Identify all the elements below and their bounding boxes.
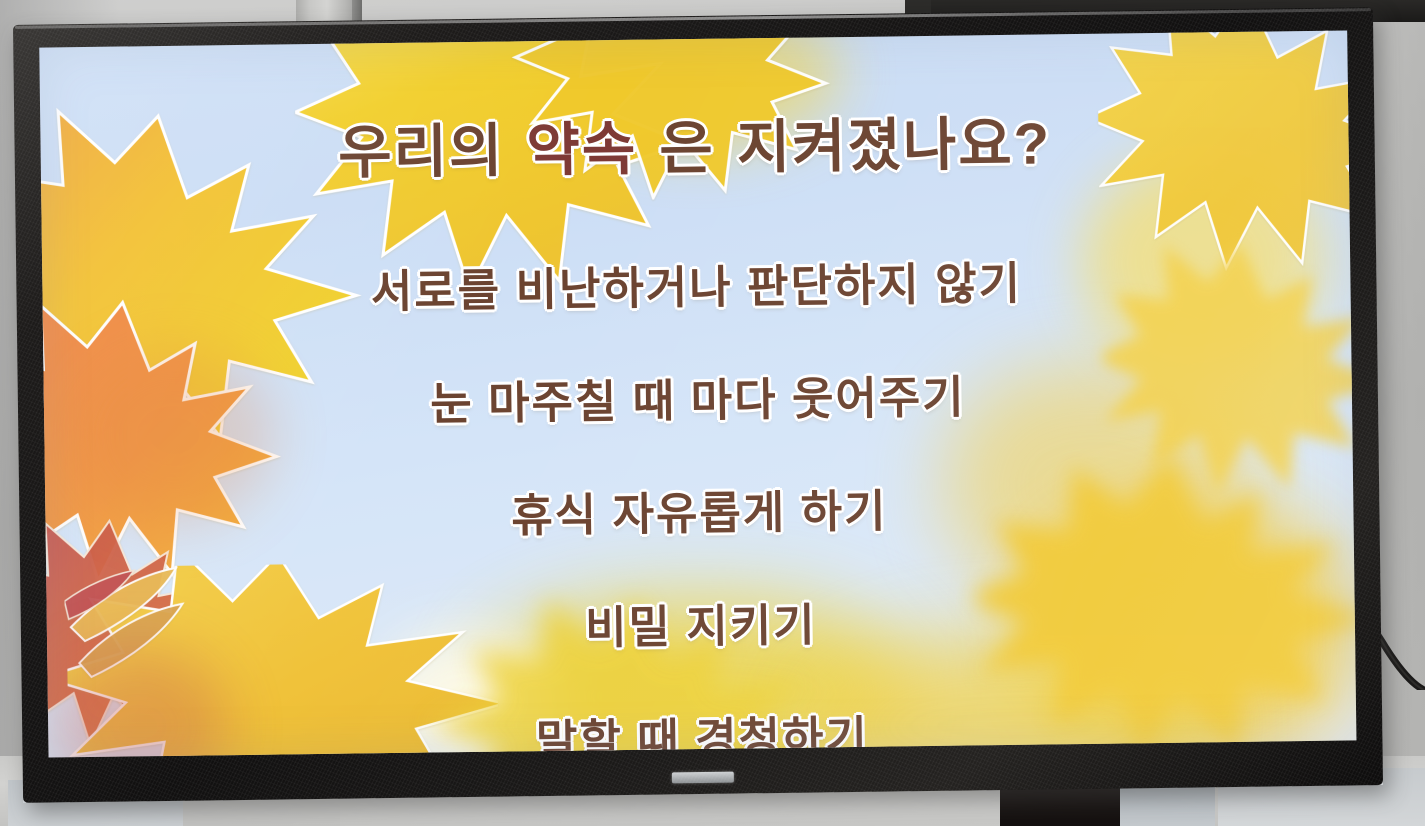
slide-text-content: 우리의 약속 은 지켜졌나요? 서로를 비난하거나 판단하지 않기 눈 마주칠 … (39, 30, 1356, 757)
promise-item-2: 눈 마주칠 때 마다 웃어주기 (44, 355, 1353, 437)
tv-screen: 우리의 약속 은 지켜졌나요? 서로를 비난하거나 판단하지 않기 눈 마주칠 … (39, 30, 1356, 757)
television: 우리의 약속 은 지켜졌나요? 서로를 비난하거나 판단하지 않기 눈 마주칠 … (13, 7, 1383, 803)
promise-item-3: 휴식 자유롭게 하기 (45, 468, 1354, 550)
slide-title: 우리의 약속 은 지켜졌나요? (40, 108, 1349, 189)
title-segment-2: 약속 (524, 118, 640, 183)
title-segment-1: 우리의 (336, 119, 507, 185)
promise-item-4: 비밀 지키기 (46, 581, 1355, 663)
title-segment-3: 은 (657, 117, 717, 182)
promise-item-1: 서로를 비난하거나 판단하지 않기 (42, 242, 1351, 324)
title-segment-4: 지켜졌나요? (734, 112, 1053, 180)
tv-brand-badge (672, 772, 734, 784)
screenshot-scene: 우리의 약속 은 지켜졌나요? 서로를 비난하거나 판단하지 않기 눈 마주칠 … (0, 0, 1425, 826)
promise-list: 서로를 비난하거나 판단하지 않기 눈 마주칠 때 마다 웃어주기 휴식 자유롭… (42, 242, 1356, 757)
